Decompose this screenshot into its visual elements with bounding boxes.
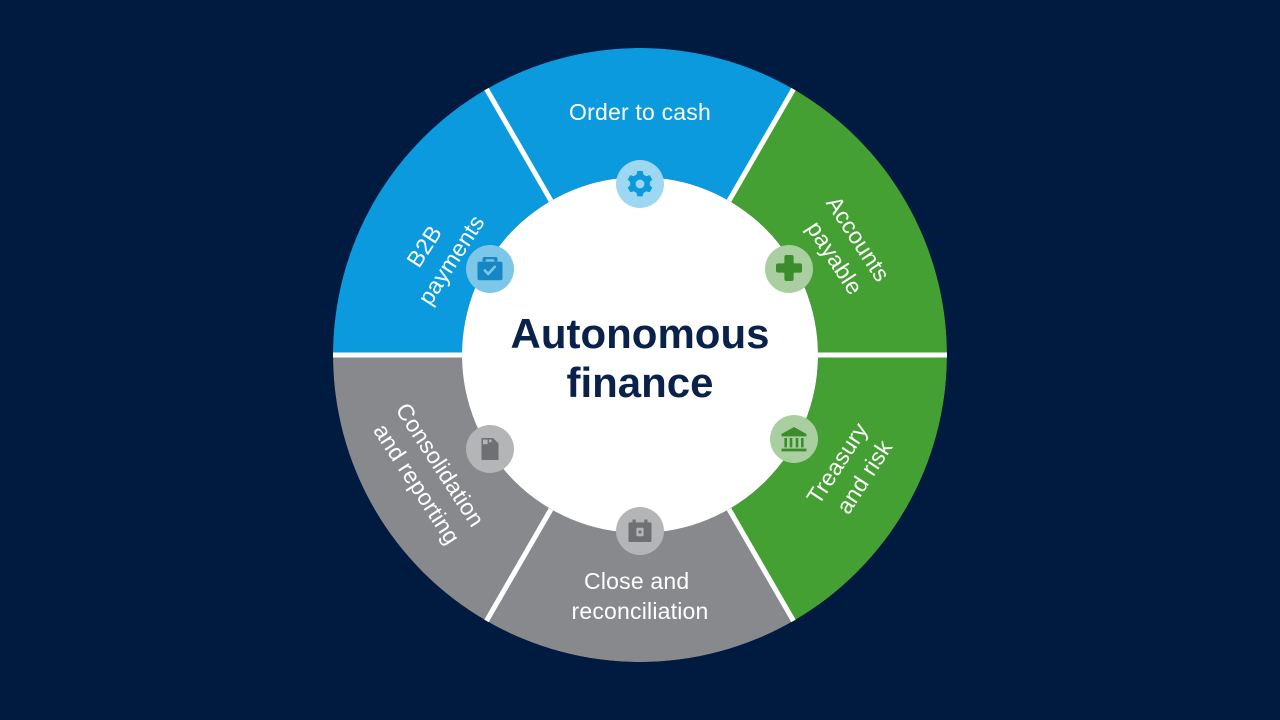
svg-text:Order to cash: Order to cash <box>569 99 711 125</box>
icon-badge-treasury-and-risk[interactable] <box>770 415 818 463</box>
plus-cross-icon-background <box>765 245 813 293</box>
icon-badge-b2b-payments[interactable] <box>466 245 514 293</box>
icon-badge-close-and-reconciliation[interactable] <box>616 507 664 555</box>
center-title-line1: Autonomous <box>511 310 770 357</box>
gear-icon-background <box>616 160 664 208</box>
autonomous-finance-wheel: Autonomous finance Order to cash Account… <box>0 0 1280 720</box>
label-close-and-reconciliation-line2: reconciliation <box>571 598 708 624</box>
document-icon-background <box>466 425 514 473</box>
safe-vault-icon-background <box>616 507 664 555</box>
icon-badge-consolidation-and-reporting[interactable] <box>466 425 514 473</box>
bank-icon-background <box>770 415 818 463</box>
label-order-to-cash-line1: Order to cash <box>569 99 711 125</box>
briefcase-check-icon-background <box>466 245 514 293</box>
icon-badge-accounts-payable[interactable] <box>765 245 813 293</box>
center-title-line2: finance <box>566 359 713 406</box>
label-close-and-reconciliation-line1: Close and <box>584 568 689 594</box>
icon-badge-order-to-cash[interactable] <box>616 160 664 208</box>
diagram-canvas: Autonomous finance Order to cash Account… <box>0 0 1280 720</box>
label-order-to-cash: Order to cash <box>569 99 711 125</box>
